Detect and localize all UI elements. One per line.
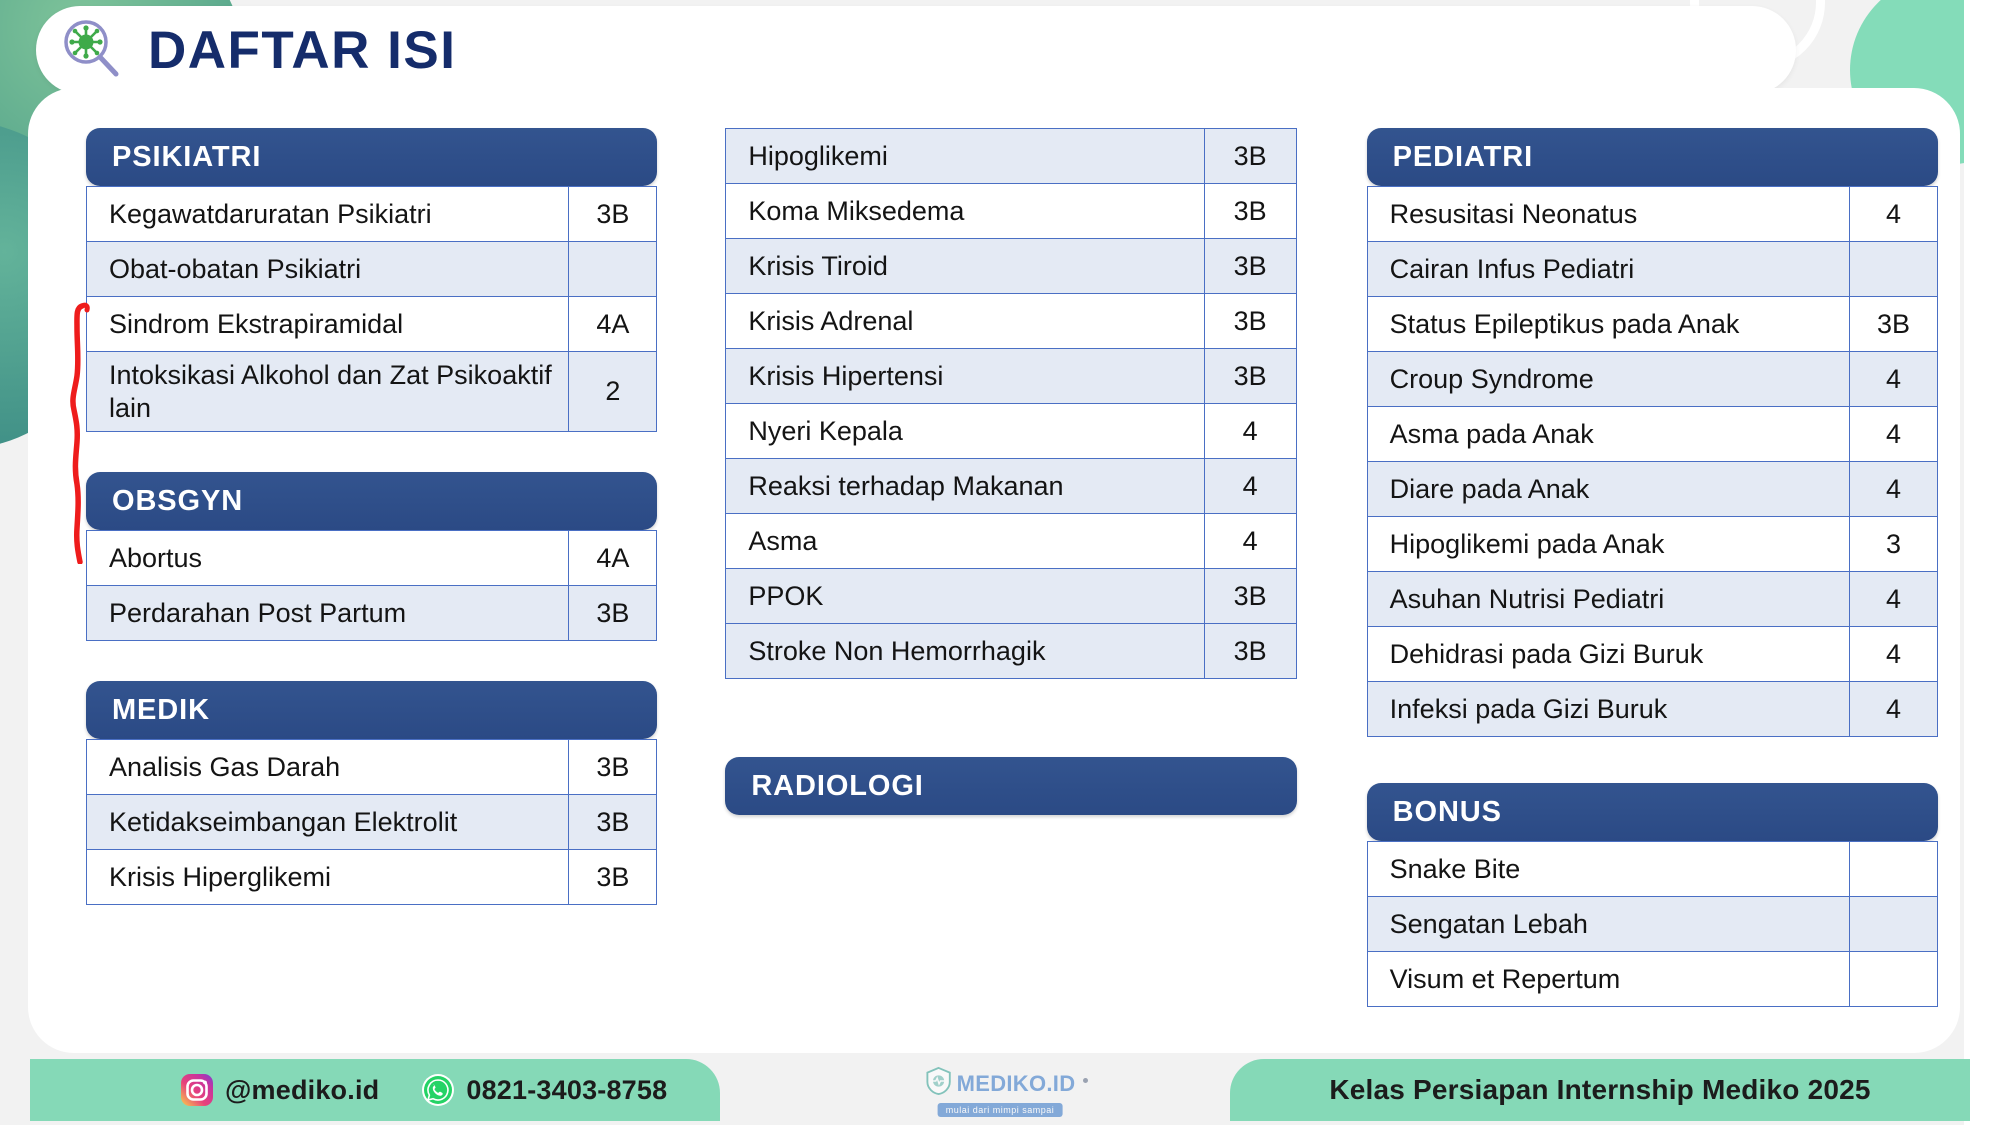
row-value	[1849, 242, 1937, 297]
table-row[interactable]: Kegawatdaruratan Psikiatri 3B	[87, 187, 657, 242]
row-label: Asma	[726, 514, 1204, 569]
table-row[interactable]: Reaksi terhadap Makanan 4	[726, 459, 1296, 514]
table-bonus: Snake Bite Sengatan Lebah Visum et Reper…	[1367, 841, 1938, 1007]
row-value: 3B	[1204, 239, 1296, 294]
section-medik-continued: Hipoglikemi 3B Koma Miksedema 3B Krisis …	[725, 128, 1296, 679]
table-row[interactable]: Nyeri Kepala 4	[726, 404, 1296, 459]
row-label: Sindrom Ekstrapiramidal	[87, 297, 569, 352]
section-obsgyn: OBSGYN Abortus 4A Perdarahan Post Partum…	[86, 472, 657, 641]
table-row[interactable]: Diare pada Anak 4	[1367, 462, 1937, 517]
table-row[interactable]: Ketidakseimbangan Elektrolit 3B	[87, 795, 657, 850]
row-label: PPOK	[726, 569, 1204, 624]
row-value: 4	[1204, 514, 1296, 569]
table-medik-continued: Hipoglikemi 3B Koma Miksedema 3B Krisis …	[725, 128, 1296, 679]
table-row[interactable]: Sindrom Ekstrapiramidal 4A	[87, 297, 657, 352]
table-row[interactable]: Krisis Tiroid 3B	[726, 239, 1296, 294]
row-value: 4	[1849, 682, 1937, 737]
row-value: 3B	[1204, 129, 1296, 184]
row-value	[569, 242, 657, 297]
mediko-logo-text: MEDIKO.ID	[957, 1071, 1076, 1097]
section-header-medik: MEDIK	[86, 681, 657, 739]
column-middle: Hipoglikemi 3B Koma Miksedema 3B Krisis …	[725, 128, 1296, 1047]
row-label: Asma pada Anak	[1367, 407, 1849, 462]
magnifier-virus-icon	[58, 16, 126, 84]
section-header-pediatri: PEDIATRI	[1367, 128, 1938, 186]
table-row[interactable]: Visum et Repertum	[1367, 952, 1937, 1007]
table-row[interactable]: Asma 4	[726, 514, 1296, 569]
row-label: Perdarahan Post Partum	[87, 586, 569, 641]
table-row[interactable]: Croup Syndrome 4	[1367, 352, 1937, 407]
table-row[interactable]: Infeksi pada Gizi Buruk 4	[1367, 682, 1937, 737]
table-row[interactable]: Asma pada Anak 4	[1367, 407, 1937, 462]
table-row[interactable]: Hipoglikemi 3B	[726, 129, 1296, 184]
section-psikiatri: PSIKIATRI Kegawatdaruratan Psikiatri 3B …	[86, 128, 657, 432]
row-value: 3B	[569, 795, 657, 850]
row-label: Hipoglikemi pada Anak	[1367, 517, 1849, 572]
mediko-shield-icon	[925, 1066, 953, 1101]
row-label: Krisis Hipertensi	[726, 349, 1204, 404]
footer-class-pill: Kelas Persiapan Internship Mediko 2025	[1230, 1059, 1970, 1121]
footer-whatsapp[interactable]: 0821-3403-8758	[421, 1073, 667, 1107]
row-value: 4A	[569, 531, 657, 586]
row-label: Sengatan Lebah	[1367, 897, 1849, 952]
table-medik: Analisis Gas Darah 3B Ketidakseimbangan …	[86, 739, 657, 905]
row-label: Hipoglikemi	[726, 129, 1204, 184]
row-label: Stroke Non Hemorrhagik	[726, 624, 1204, 679]
instagram-icon	[180, 1073, 214, 1107]
row-label: Diare pada Anak	[1367, 462, 1849, 517]
row-label: Obat-obatan Psikiatri	[87, 242, 569, 297]
table-row[interactable]: Stroke Non Hemorrhagik 3B	[726, 624, 1296, 679]
instagram-handle: @mediko.id	[225, 1075, 379, 1106]
section-radiologi: RADIOLOGI	[725, 757, 1296, 815]
table-obsgyn: Abortus 4A Perdarahan Post Partum 3B	[86, 530, 657, 641]
row-label: Analisis Gas Darah	[87, 740, 569, 795]
row-label: Abortus	[87, 531, 569, 586]
row-value: 2	[569, 352, 657, 432]
row-label: Nyeri Kepala	[726, 404, 1204, 459]
row-value: 3B	[1204, 624, 1296, 679]
section-title: MEDIK	[112, 694, 210, 727]
row-label: Infeksi pada Gizi Buruk	[1367, 682, 1849, 737]
section-title: RADIOLOGI	[751, 770, 923, 803]
row-value: 4A	[569, 297, 657, 352]
row-value: 3B	[1204, 294, 1296, 349]
table-row[interactable]: Abortus 4A	[87, 531, 657, 586]
table-row[interactable]: Krisis Hiperglikemi 3B	[87, 850, 657, 905]
column-left: PSIKIATRI Kegawatdaruratan Psikiatri 3B …	[86, 128, 657, 1047]
whatsapp-icon	[421, 1073, 455, 1107]
section-header-radiologi: RADIOLOGI	[725, 757, 1296, 815]
footer: @mediko.id 0821-3403-8758	[0, 1053, 2000, 1125]
row-value: 3B	[569, 850, 657, 905]
table-row[interactable]: Krisis Hipertensi 3B	[726, 349, 1296, 404]
row-value: 4	[1849, 407, 1937, 462]
row-label: Snake Bite	[1367, 842, 1849, 897]
row-label: Krisis Adrenal	[726, 294, 1204, 349]
footer-instagram[interactable]: @mediko.id	[180, 1073, 379, 1107]
row-value: 4	[1204, 459, 1296, 514]
row-label: Intoksikasi Alkohol dan Zat Psikoaktif l…	[87, 352, 569, 432]
section-medik: MEDIK Analisis Gas Darah 3B Ketidakseimb…	[86, 681, 657, 905]
row-value: 4	[1849, 627, 1937, 682]
row-value: 4	[1204, 404, 1296, 459]
mediko-logo-tagline: mulai dari mimpi sampai	[938, 1103, 1063, 1117]
slide-canvas: DAFTAR ISI PSIKIATRI Kegawatdaruratan Ps…	[0, 0, 2000, 1125]
row-label: Status Epileptikus pada Anak	[1367, 297, 1849, 352]
footer-brand-logo: MEDIKO.ID mulai dari mimpi sampai	[925, 1066, 1076, 1117]
section-header-psikiatri: PSIKIATRI	[86, 128, 657, 186]
table-row[interactable]: Koma Miksedema 3B	[726, 184, 1296, 239]
table-pediatri: Resusitasi Neonatus 4 Cairan Infus Pedia…	[1367, 186, 1938, 737]
whatsapp-number: 0821-3403-8758	[466, 1075, 667, 1106]
section-title: OBSGYN	[112, 485, 243, 518]
row-value: 3B	[1204, 184, 1296, 239]
row-label: Ketidakseimbangan Elektrolit	[87, 795, 569, 850]
section-title: PEDIATRI	[1393, 141, 1533, 174]
row-value: 3B	[1204, 349, 1296, 404]
table-row[interactable]: Intoksikasi Alkohol dan Zat Psikoaktif l…	[87, 352, 657, 432]
table-row[interactable]: Cairan Infus Pediatri	[1367, 242, 1937, 297]
table-psikiatri: Kegawatdaruratan Psikiatri 3B Obat-obata…	[86, 186, 657, 432]
table-row[interactable]: Obat-obatan Psikiatri	[87, 242, 657, 297]
row-label: Krisis Hiperglikemi	[87, 850, 569, 905]
table-row[interactable]: Dehidrasi pada Gizi Buruk 4	[1367, 627, 1937, 682]
table-row[interactable]: Sengatan Lebah	[1367, 897, 1937, 952]
row-label: Resusitasi Neonatus	[1367, 187, 1849, 242]
row-label: Asuhan Nutrisi Pediatri	[1367, 572, 1849, 627]
row-label: Dehidrasi pada Gizi Buruk	[1367, 627, 1849, 682]
table-row[interactable]: Resusitasi Neonatus 4	[1367, 187, 1937, 242]
decorative-right-strip	[1964, 0, 2000, 1125]
section-title: PSIKIATRI	[112, 141, 261, 174]
section-title: BONUS	[1393, 796, 1502, 829]
row-value: 3B	[1204, 569, 1296, 624]
row-value: 3	[1849, 517, 1937, 572]
section-header-obsgyn: OBSGYN	[86, 472, 657, 530]
column-right: PEDIATRI Resusitasi Neonatus 4 Cairan In…	[1367, 128, 1938, 1047]
footer-class-title: Kelas Persiapan Internship Mediko 2025	[1329, 1074, 1870, 1106]
row-value	[1849, 952, 1937, 1007]
row-label: Kegawatdaruratan Psikiatri	[87, 187, 569, 242]
table-row[interactable]: Asuhan Nutrisi Pediatri 4	[1367, 572, 1937, 627]
page-title: DAFTAR ISI	[148, 20, 456, 81]
row-value: 3B	[1849, 297, 1937, 352]
row-value: 4	[1849, 187, 1937, 242]
section-header-bonus: BONUS	[1367, 783, 1938, 841]
content-card: PSIKIATRI Kegawatdaruratan Psikiatri 3B …	[28, 88, 1960, 1053]
table-row[interactable]: Snake Bite	[1367, 842, 1937, 897]
row-label: Reaksi terhadap Makanan	[726, 459, 1204, 514]
row-label: Koma Miksedema	[726, 184, 1204, 239]
table-row[interactable]: Hipoglikemi pada Anak 3	[1367, 517, 1937, 572]
section-pediatri: PEDIATRI Resusitasi Neonatus 4 Cairan In…	[1367, 128, 1938, 737]
row-value: 3B	[569, 187, 657, 242]
row-value	[1849, 842, 1937, 897]
section-bonus: BONUS Snake Bite Sengatan Lebah	[1367, 783, 1938, 1007]
row-value: 3B	[569, 740, 657, 795]
row-value: 4	[1849, 352, 1937, 407]
table-row[interactable]: Krisis Adrenal 3B	[726, 294, 1296, 349]
footer-contact-pill: @mediko.id 0821-3403-8758	[30, 1059, 720, 1121]
table-row[interactable]: Perdarahan Post Partum 3B	[87, 586, 657, 641]
row-label: Croup Syndrome	[1367, 352, 1849, 407]
row-label: Cairan Infus Pediatri	[1367, 242, 1849, 297]
table-row[interactable]: PPOK 3B	[726, 569, 1296, 624]
row-value: 3B	[569, 586, 657, 641]
table-row[interactable]: Status Epileptikus pada Anak 3B	[1367, 297, 1937, 352]
row-value: 4	[1849, 572, 1937, 627]
row-value: 4	[1849, 462, 1937, 517]
table-row[interactable]: Analisis Gas Darah 3B	[87, 740, 657, 795]
row-label: Krisis Tiroid	[726, 239, 1204, 294]
row-label: Visum et Repertum	[1367, 952, 1849, 1007]
row-value	[1849, 897, 1937, 952]
header-bar: DAFTAR ISI	[36, 6, 1796, 94]
content-columns: PSIKIATRI Kegawatdaruratan Psikiatri 3B …	[58, 128, 1938, 1047]
